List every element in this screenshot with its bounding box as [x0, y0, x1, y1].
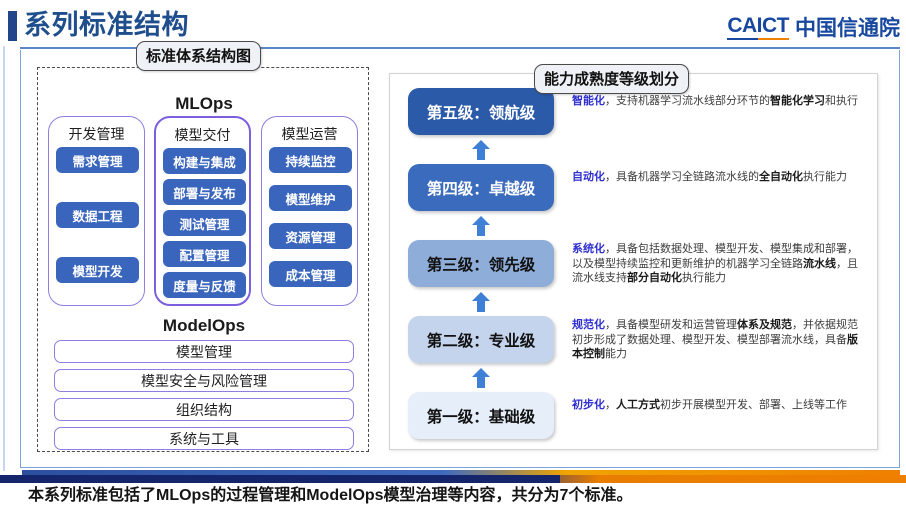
chip-item[interactable]: 数据工程 — [56, 202, 139, 228]
desc-text: 和执行 — [825, 95, 858, 107]
desc-bold: 体系及规范 — [737, 319, 792, 331]
modelops-rows: 模型管理 模型安全与风险管理 组织结构 系统与工具 — [54, 340, 354, 456]
left-panel-badge: 标准体系结构图 — [136, 41, 261, 71]
arrow-up-icon — [470, 215, 492, 237]
desc-keyword: 自动化 — [572, 171, 605, 183]
chip-item[interactable]: 模型开发 — [56, 257, 139, 283]
footer-bar-solid — [0, 475, 560, 483]
chip-item[interactable]: 资源管理 — [269, 223, 352, 249]
slide-body: MLOps 开发管理 需求管理 数据工程 模型开发 模型交付 构建与集成 部署与… — [20, 50, 900, 468]
desc-text: ，具备模型研发和运营管理 — [605, 319, 737, 331]
level-desc-5: 智能化，支持机器学习流水线部分环节的智能化学习和执行 — [572, 94, 868, 109]
chip-item[interactable]: 构建与集成 — [163, 148, 246, 174]
desc-bold: 全自动化 — [759, 171, 803, 183]
modelops-heading: ModelOps — [38, 316, 370, 336]
modelops-row[interactable]: 组织结构 — [54, 398, 354, 421]
desc-bold: 人工方式 — [616, 399, 660, 411]
desc-bold: 部分自动化 — [627, 272, 682, 284]
maturity-levels-list: 第五级：领航级 智能化，支持机器学习流水线部分环节的智能化学习和执行 第四级：卓… — [390, 74, 879, 451]
mlops-columns: 开发管理 需求管理 数据工程 模型开发 模型交付 构建与集成 部署与发布 测试管… — [46, 116, 362, 306]
title-accent-bar — [8, 11, 17, 41]
desc-keyword: 系统化 — [572, 243, 605, 255]
arrow-up-icon — [470, 139, 492, 161]
arrow-up-icon — [470, 291, 492, 313]
mlops-heading: MLOps — [38, 94, 370, 114]
level-desc-4: 自动化，具备机器学习全链路流水线的全自动化执行能力 — [572, 170, 868, 185]
logo-mark: CAICT — [727, 14, 789, 40]
level-box-4[interactable]: 第四级：卓越级 — [408, 164, 554, 211]
desc-text: 初步开展模型开发、部署、上线等工作 — [660, 399, 847, 411]
chip-item[interactable]: 模型维护 — [269, 185, 352, 211]
page-title: 系列标准结构 — [24, 8, 189, 42]
slide-root: 系列标准结构 CAICT 中国信通院 MLOps 开发管理 需求管理 数据工程 … — [0, 0, 906, 512]
level-desc-1: 初步化，人工方式初步开展模型开发、部署、上线等工作 — [572, 398, 868, 413]
level-desc-3: 系统化，具备包括数据处理、模型开发、模型集成和部署，以及模型持续监控和更新维护的… — [572, 242, 868, 286]
level-box-2[interactable]: 第二级：专业级 — [408, 316, 554, 363]
column-items: 持续监控 模型维护 资源管理 成本管理 — [269, 147, 352, 287]
modelops-row[interactable]: 模型管理 — [54, 340, 354, 363]
desc-text: 能力 — [605, 348, 627, 360]
modelops-row[interactable]: 模型安全与风险管理 — [54, 369, 354, 392]
desc-keyword: 智能化 — [572, 95, 605, 107]
chip-item[interactable]: 成本管理 — [269, 261, 352, 287]
mlops-column-operations: 模型运营 持续监控 模型维护 资源管理 成本管理 — [261, 116, 358, 306]
logo-name: 中国信通院 — [795, 17, 900, 40]
level-box-1[interactable]: 第一级：基础级 — [408, 392, 554, 439]
right-panel-badge: 能力成熟度等级划分 — [534, 64, 689, 94]
slide-header: 系列标准结构 CAICT 中国信通院 — [0, 0, 906, 50]
level-desc-2: 规范化，具备模型研发和运营管理体系及规范，并依据规范初步形成了数据处理、模型开发… — [572, 318, 868, 362]
column-title: 开发管理 — [49, 124, 144, 144]
chip-item[interactable]: 配置管理 — [163, 241, 246, 267]
chip-item[interactable]: 需求管理 — [56, 147, 139, 173]
chip-item[interactable]: 测试管理 — [163, 210, 246, 236]
desc-bold: 智能化学习 — [770, 95, 825, 107]
column-items: 需求管理 数据工程 模型开发 — [56, 147, 139, 312]
level-box-3[interactable]: 第三级：领先级 — [408, 240, 554, 287]
column-title: 模型运营 — [262, 124, 357, 144]
slide-left-rule — [0, 0, 5, 512]
column-title: 模型交付 — [156, 125, 249, 145]
chip-item[interactable]: 部署与发布 — [163, 179, 246, 205]
desc-text: 执行能力 — [682, 272, 726, 284]
mlops-column-dev: 开发管理 需求管理 数据工程 模型开发 — [48, 116, 145, 306]
slide-left-rule-inner — [3, 46, 5, 471]
footer-caption: 本系列标准包括了MLOps的过程管理和ModelOps模型治理等内容，共分为7个… — [28, 485, 888, 507]
chip-item[interactable]: 度量与反馈 — [163, 272, 246, 298]
desc-text: 执行能力 — [803, 171, 847, 183]
desc-bold: 流水线 — [803, 258, 836, 270]
maturity-levels-panel: 第五级：领航级 智能化，支持机器学习流水线部分环节的智能化学习和执行 第四级：卓… — [389, 73, 878, 450]
desc-keyword: 规范化 — [572, 319, 605, 331]
desc-text: ， — [605, 399, 616, 411]
desc-text: ，支持机器学习流水线部分环节的 — [605, 95, 770, 107]
arrow-up-icon — [470, 367, 492, 389]
standards-architecture-panel: MLOps 开发管理 需求管理 数据工程 模型开发 模型交付 构建与集成 部署与… — [37, 67, 369, 452]
modelops-row[interactable]: 系统与工具 — [54, 427, 354, 450]
desc-text: ，具备机器学习全链路流水线的 — [605, 171, 759, 183]
column-items: 构建与集成 部署与发布 测试管理 配置管理 度量与反馈 — [163, 148, 246, 303]
mlops-column-delivery: 模型交付 构建与集成 部署与发布 测试管理 配置管理 度量与反馈 — [154, 116, 251, 306]
desc-keyword: 初步化 — [572, 399, 605, 411]
caict-logo: CAICT 中国信通院 — [727, 14, 900, 40]
chip-item[interactable]: 持续监控 — [269, 147, 352, 173]
level-box-5[interactable]: 第五级：领航级 — [408, 88, 554, 135]
